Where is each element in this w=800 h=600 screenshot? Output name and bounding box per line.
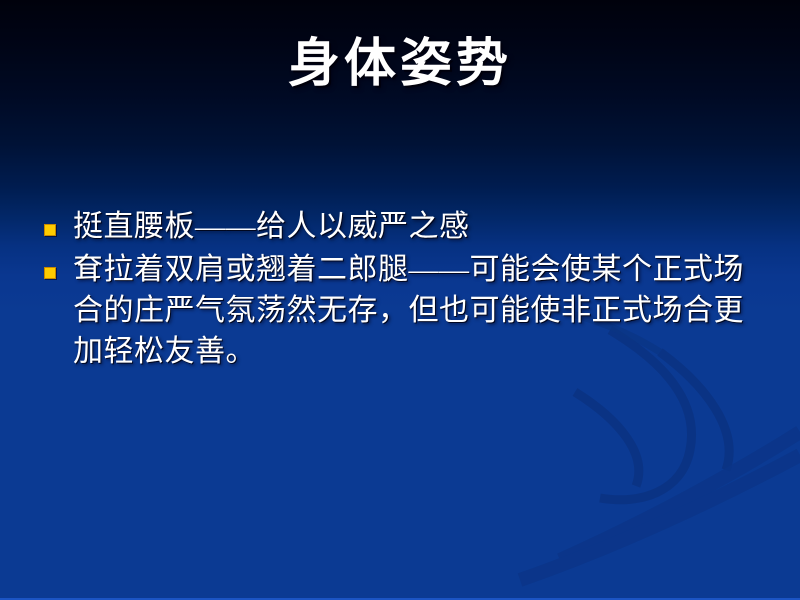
square-bullet-icon: [44, 267, 56, 279]
square-bullet-icon: [44, 224, 56, 236]
presentation-slide: 身体姿势 挺直腰板——给人以威严之感 耷拉着双肩或翘着二郎腿——可能会使某个正式…: [0, 0, 800, 600]
slide-title-block: 身体姿势: [0, 34, 800, 96]
bullet-text: 耷拉着双肩或翘着二郎腿——可能会使某个正式场合的庄严气氛荡然无存，但也可能使非正…: [73, 249, 768, 372]
slide-body-content: 挺直腰板——给人以威严之感 耷拉着双肩或翘着二郎腿——可能会使某个正式场合的庄严…: [44, 206, 768, 374]
bullet-text: 挺直腰板——给人以威严之感: [73, 206, 768, 247]
page-title: 身体姿势: [288, 34, 512, 96]
list-item: 挺直腰板——给人以威严之感: [44, 206, 768, 247]
list-item: 耷拉着双肩或翘着二郎腿——可能会使某个正式场合的庄严气氛荡然无存，但也可能使非正…: [44, 249, 768, 372]
